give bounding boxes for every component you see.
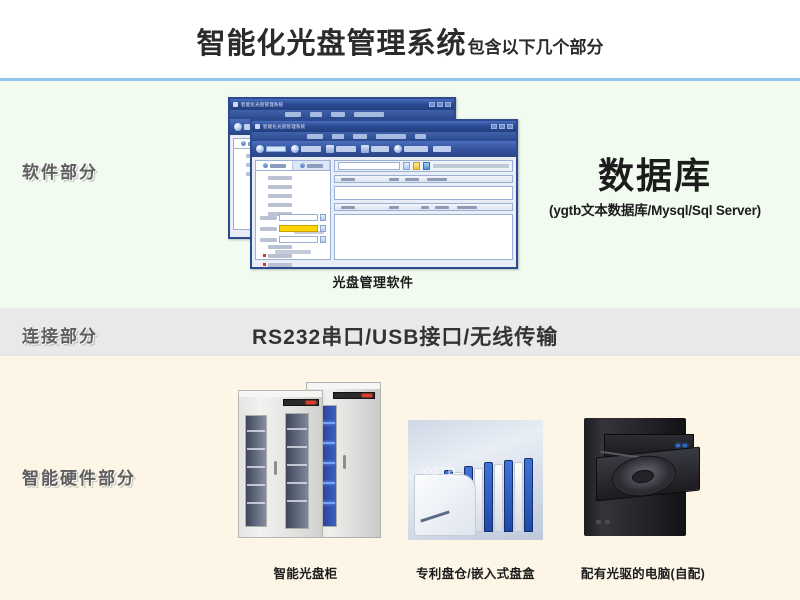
front-buttons — [596, 520, 610, 524]
cabinet-glass-door-right — [285, 413, 309, 529]
toolbar-label — [433, 146, 451, 152]
input-row-highlighted[interactable] — [260, 225, 326, 232]
disc-magazine-photo: YGTB — [408, 420, 543, 540]
cabinet-glass-door-left — [245, 415, 267, 527]
menu-item-active[interactable] — [354, 112, 384, 117]
cabinet-led-display — [333, 392, 375, 399]
text-input[interactable] — [279, 214, 318, 221]
tab-label — [307, 164, 323, 168]
left-pane-tabs-front[interactable] — [256, 161, 330, 171]
window-titlebar-back: 智能化光盘管理系统 — [230, 99, 454, 110]
menu-item[interactable] — [415, 134, 426, 139]
status-leds — [676, 444, 687, 447]
toolbar-button-disc-out[interactable] — [291, 145, 321, 153]
toolbar-button-exit[interactable] — [433, 146, 451, 152]
cabinet-top-panel — [239, 391, 322, 397]
magazine-shell — [414, 474, 476, 536]
user-icon — [300, 163, 305, 168]
text-input-active[interactable] — [279, 225, 318, 232]
cabinet-handle — [343, 455, 346, 469]
search-input[interactable] — [338, 162, 400, 170]
disc-out-icon — [291, 145, 299, 153]
minimize-icon[interactable] — [491, 124, 497, 129]
search-button[interactable] — [403, 162, 410, 170]
disc-in-icon — [234, 123, 242, 131]
field-label — [268, 263, 292, 267]
browse-button[interactable] — [320, 214, 326, 221]
left-pane-front — [255, 160, 331, 260]
field-label — [268, 176, 292, 180]
minimize-icon[interactable] — [429, 102, 435, 107]
menu-item[interactable] — [310, 112, 322, 117]
disc-cabinet-photo — [218, 380, 393, 545]
disc-icon — [241, 141, 246, 146]
led-indicator — [306, 401, 316, 404]
menubar-back[interactable] — [230, 110, 454, 119]
window-controls-back[interactable] — [429, 102, 451, 107]
page-header: 智能化光盘管理系统包含以下几个部分 — [0, 0, 800, 80]
toolbar-label — [404, 146, 428, 152]
hardware-caption-cabinet: 智能光盘柜 — [218, 563, 393, 582]
magazine-image: YGTB — [408, 420, 543, 540]
data-grid-top[interactable] — [334, 186, 513, 200]
app-icon — [233, 102, 238, 107]
tab-user-info[interactable] — [293, 161, 330, 170]
search-bar[interactable] — [334, 160, 513, 172]
column-header — [341, 178, 355, 181]
hardware-caption-pc: 配有光驱的电脑(自配) — [563, 563, 723, 582]
column-header — [405, 178, 419, 181]
maximize-icon[interactable] — [437, 102, 443, 107]
toolbar-label — [301, 146, 321, 152]
cabinet-led-display — [283, 399, 319, 406]
window-title-text-back: 智能化光盘管理系统 — [241, 102, 283, 108]
field-label — [268, 194, 292, 198]
checkbox-row[interactable] — [275, 250, 311, 254]
input-row[interactable] — [260, 236, 326, 243]
add-button[interactable] — [413, 162, 420, 170]
toolbar-label — [336, 146, 356, 152]
text-input[interactable] — [279, 236, 318, 243]
toolbar-button-settings[interactable] — [361, 145, 389, 153]
column-header — [427, 178, 447, 181]
menu-item[interactable] — [307, 134, 323, 139]
page-title: 智能化光盘管理系统包含以下几个部分 — [0, 20, 800, 62]
disc-icon — [263, 163, 268, 168]
column-header — [341, 206, 355, 209]
watermark-text: YGTB — [422, 466, 457, 478]
field-label — [268, 203, 292, 207]
toolbar-button-search[interactable] — [394, 145, 428, 153]
database-title: 数据库 — [520, 155, 790, 197]
menu-item-active[interactable] — [376, 134, 406, 139]
section-label-connection: 连接部分 — [22, 322, 98, 347]
title-sub-text: 包含以下几个部分 — [468, 38, 604, 57]
input-row[interactable] — [260, 214, 326, 221]
gear-icon — [361, 145, 369, 153]
column-header — [435, 206, 449, 209]
window-controls-front[interactable] — [491, 124, 513, 129]
window-title-text-front: 智能化光盘管理系统 — [263, 124, 305, 130]
toolbar-label — [266, 146, 286, 152]
led-indicator — [362, 394, 372, 397]
menu-item[interactable] — [285, 112, 301, 117]
pc-with-optical-drive-photo — [578, 412, 708, 542]
cabinet-handle — [274, 461, 277, 475]
window-titlebar-front[interactable]: 智能化光盘管理系统 — [252, 121, 516, 132]
status-text — [433, 164, 509, 168]
column-header — [389, 178, 399, 181]
left-pane-inputs — [260, 214, 326, 254]
magnifier-icon — [394, 145, 402, 153]
browse-button[interactable] — [320, 225, 326, 232]
pc-image — [578, 412, 708, 542]
window-body-front — [252, 157, 516, 263]
refresh-button[interactable] — [423, 162, 430, 170]
grid-header-bottom — [334, 203, 513, 211]
maximize-icon[interactable] — [499, 124, 505, 129]
toolbar-front[interactable] — [252, 141, 516, 157]
database-block: 数据库 (ygtb文本数据库/Mysql/Sql Server) — [520, 155, 790, 219]
data-grid-bottom[interactable] — [334, 214, 513, 260]
input-label — [260, 238, 277, 242]
field-label-required — [268, 254, 292, 258]
disc-query-icon — [326, 145, 334, 153]
title-main-text: 智能化光盘管理系统 — [196, 28, 466, 60]
database-subtitle: (ygtb文本数据库/Mysql/Sql Server) — [520, 199, 790, 219]
app-window-front[interactable]: 智能化光盘管理系统 — [250, 119, 518, 269]
close-icon[interactable] — [507, 124, 513, 129]
toolbar-button-disc-in[interactable] — [256, 145, 286, 153]
cabinet-top-panel — [307, 383, 380, 389]
app-icon — [255, 124, 260, 129]
column-header — [389, 206, 399, 209]
toolbar-label — [371, 146, 389, 152]
column-header — [457, 206, 477, 209]
toolbar-button-disc-query[interactable] — [326, 145, 356, 153]
column-header — [421, 206, 429, 209]
menu-item[interactable] — [353, 134, 367, 139]
menubar-front[interactable] — [252, 132, 516, 141]
disc-in-icon — [256, 145, 264, 153]
right-pane-front — [334, 160, 513, 260]
connection-methods-text: RS232串口/USB接口/无线传输 — [252, 321, 558, 351]
input-label — [260, 227, 277, 231]
input-label — [260, 216, 277, 220]
menu-item[interactable] — [332, 134, 344, 139]
section-label-software: 软件部分 — [22, 158, 98, 183]
grid-header-top — [334, 175, 513, 183]
cabinet-left — [238, 390, 323, 538]
poster-root: 智能化光盘管理系统包含以下几个部分 软件部分 智能化光盘管理系统 — [0, 0, 800, 600]
menu-item[interactable] — [331, 112, 345, 117]
browse-button[interactable] — [320, 236, 326, 243]
software-caption: 光盘管理软件 — [228, 272, 518, 291]
software-screenshot: 智能化光盘管理系统 — [228, 97, 518, 269]
tab-label — [270, 164, 286, 168]
tab-disc-info[interactable] — [256, 161, 293, 170]
field-label — [268, 185, 292, 189]
section-label-hardware: 智能硬件部分 — [22, 464, 136, 489]
hardware-caption-magazine: 专利盘仓/嵌入式盘盒 — [393, 563, 558, 582]
close-icon[interactable] — [445, 102, 451, 107]
